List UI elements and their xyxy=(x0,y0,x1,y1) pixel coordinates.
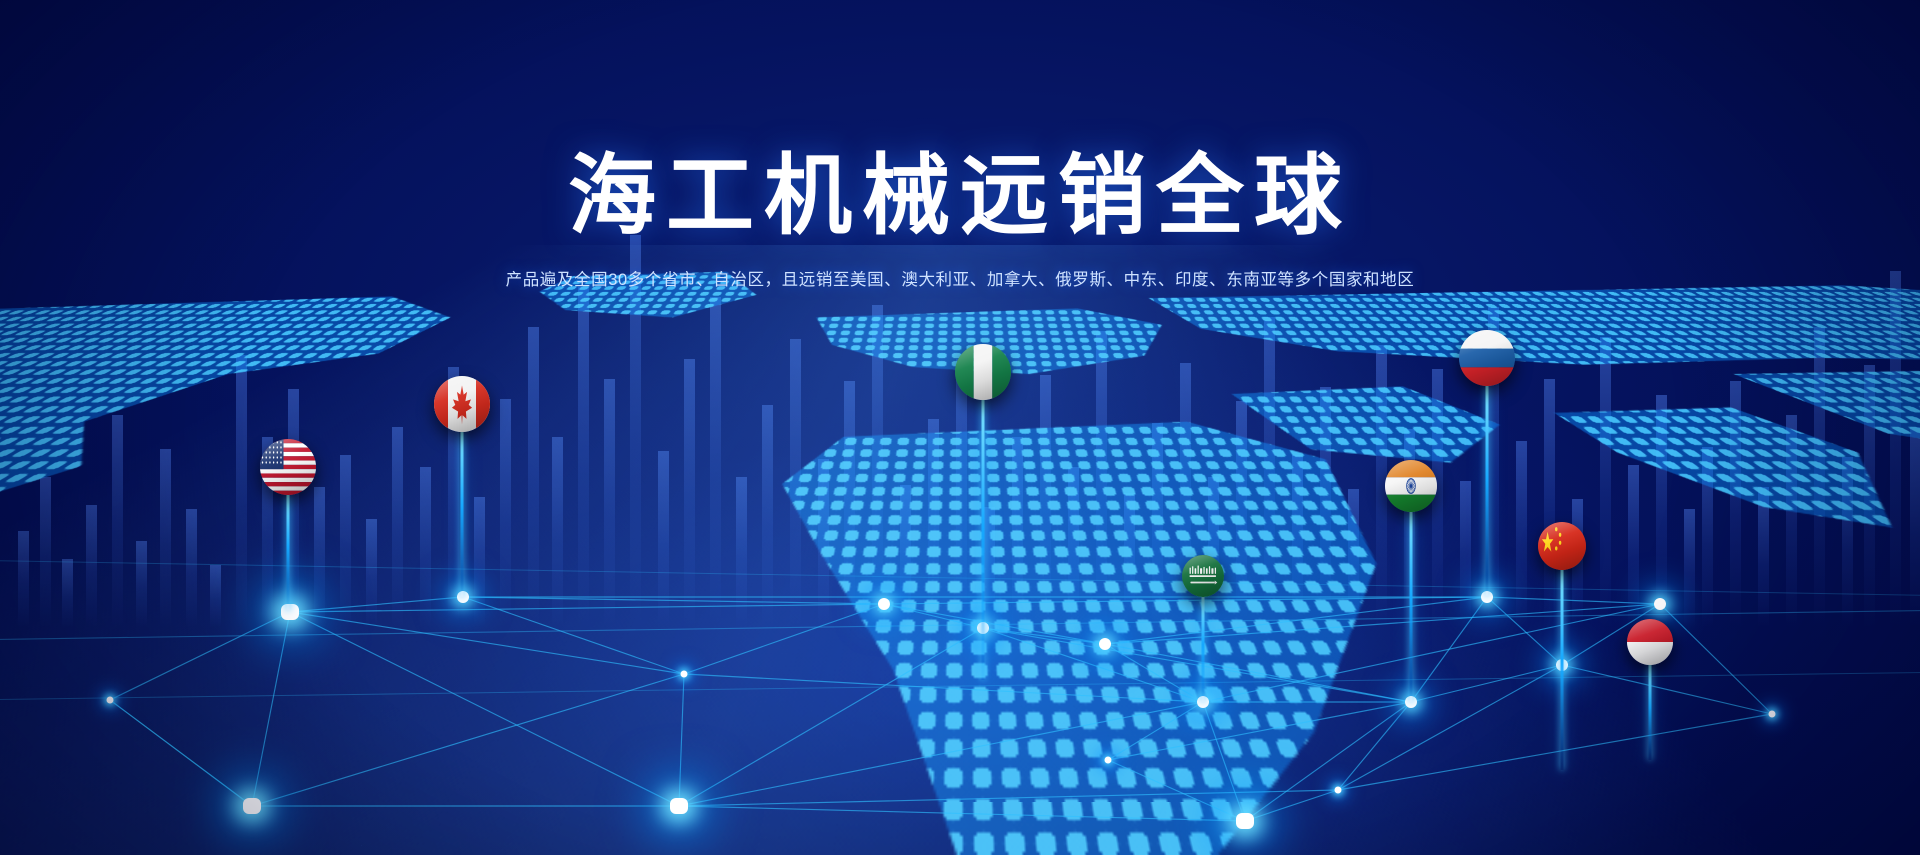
flag-pin-stem xyxy=(1202,597,1205,702)
network-line xyxy=(679,806,1245,821)
network-line xyxy=(110,612,290,700)
flag-icon-in xyxy=(1385,460,1437,512)
network-line xyxy=(1562,665,1772,714)
flag-pin-stem xyxy=(287,495,290,610)
flag-pin-stem xyxy=(1561,570,1564,770)
network-line xyxy=(1203,702,1245,821)
network-line xyxy=(884,597,1487,604)
network-line xyxy=(1108,702,1411,760)
network-line xyxy=(1487,597,1562,665)
network-line xyxy=(1108,760,1245,821)
network-line xyxy=(290,604,884,612)
hero-banner: 海工机械远销全球 产品遍及全国30多个省市、自治区，且远销至美国、澳大利亚、加拿… xyxy=(0,0,1920,855)
network-line xyxy=(983,628,1411,702)
network-line xyxy=(1245,702,1411,821)
network-line xyxy=(684,674,1203,702)
network-line xyxy=(1338,714,1772,790)
flag-icon-cn xyxy=(1538,522,1586,570)
page-title: 海工机械远销全球 xyxy=(0,0,1920,240)
headline-block: 海工机械远销全球 产品遍及全国30多个省市、自治区，且远销至美国、澳大利亚、加拿… xyxy=(0,0,1920,290)
network-line xyxy=(1338,665,1562,790)
network-line xyxy=(1487,597,1660,604)
flag-icon-ca xyxy=(434,376,490,432)
network-line xyxy=(1105,644,1411,702)
network-line xyxy=(252,612,290,806)
network-line xyxy=(679,674,684,806)
flag-icon-ru xyxy=(1459,330,1515,386)
network-line xyxy=(684,604,884,674)
network-line xyxy=(1203,604,1660,702)
flag-icon-sa xyxy=(1182,555,1224,597)
network-line xyxy=(1245,790,1338,821)
flag-pin-stem xyxy=(982,400,985,680)
flag-icon-id xyxy=(1627,619,1673,665)
flag-icon-us xyxy=(260,439,316,495)
network-line xyxy=(1105,644,1203,702)
network-line xyxy=(290,612,684,674)
network-line xyxy=(983,628,1105,644)
network-line xyxy=(463,597,884,604)
network-line xyxy=(252,674,684,806)
network-line xyxy=(0,672,1920,700)
flag-pin-stem xyxy=(1649,665,1652,760)
network-line xyxy=(110,700,252,806)
flag-pin-stem xyxy=(461,432,464,597)
flag-pin-stem xyxy=(1486,386,1489,596)
flag-icon-ng xyxy=(955,344,1011,400)
network-line xyxy=(679,628,983,806)
flag-pin-stem xyxy=(1410,512,1413,702)
network-line xyxy=(1660,604,1772,714)
page-subtitle: 产品遍及全国30多个省市、自治区，且远销至美国、澳大利亚、加拿大、俄罗斯、中东、… xyxy=(0,266,1920,290)
network-line xyxy=(679,702,1203,806)
